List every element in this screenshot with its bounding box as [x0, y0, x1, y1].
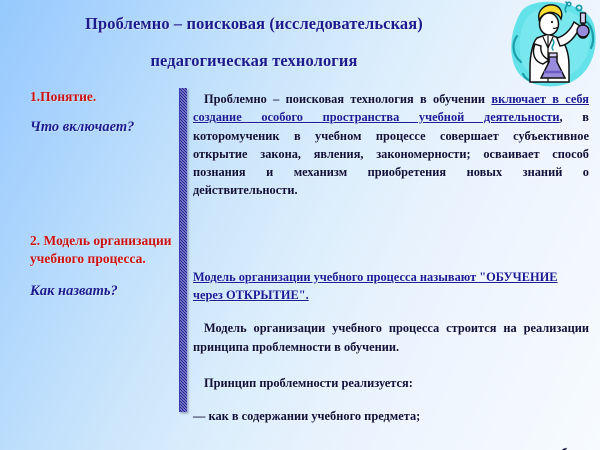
scientist-with-flasks-icon — [503, 0, 600, 88]
paragraph-concept-part-1: Проблемно – поисковая технология в обуче… — [204, 92, 491, 106]
paragraph-principle-bullet-2: — так и в процессе развертывания этого с… — [193, 444, 589, 450]
left-item-2-heading: 2. Модель организации учебного процесса. — [30, 232, 175, 268]
paragraph-principle-intro: Принцип проблемности реализуется: — [193, 374, 589, 392]
left-item-2-question: Как назвать? — [30, 282, 175, 300]
paragraph-principle-bullet-1: — как в содержании учебного предмета; — [193, 407, 589, 425]
left-column: 1.Понятие. Что включает? 2. Модель орган… — [30, 88, 175, 300]
slide-title: Проблемно – поисковая (исследовательская… — [0, 16, 508, 69]
left-item-2: 2. Модель организации учебного процесса.… — [30, 232, 175, 300]
left-item-1: 1.Понятие. Что включает? — [30, 88, 175, 136]
slide-title-line-2: педагогическая технология — [0, 53, 508, 70]
slide-title-line-1: Проблемно – поисковая (исследовательская… — [0, 16, 508, 33]
left-item-1-heading: 1.Понятие. — [30, 88, 175, 106]
right-column: Проблемно – поисковая технология в обуче… — [193, 90, 589, 450]
left-item-1-question: Что включает? — [30, 118, 175, 136]
vertical-divider — [179, 88, 187, 412]
paragraph-concept: Проблемно – поисковая технология в обуче… — [193, 90, 589, 200]
paragraph-model-built-on: Модель организации учебного процесса стр… — [193, 319, 589, 356]
paragraph-model-name[interactable]: Модель организации учебного процесса наз… — [193, 268, 589, 305]
presentation-slide: Проблемно – поисковая (исследовательская… — [0, 0, 600, 450]
